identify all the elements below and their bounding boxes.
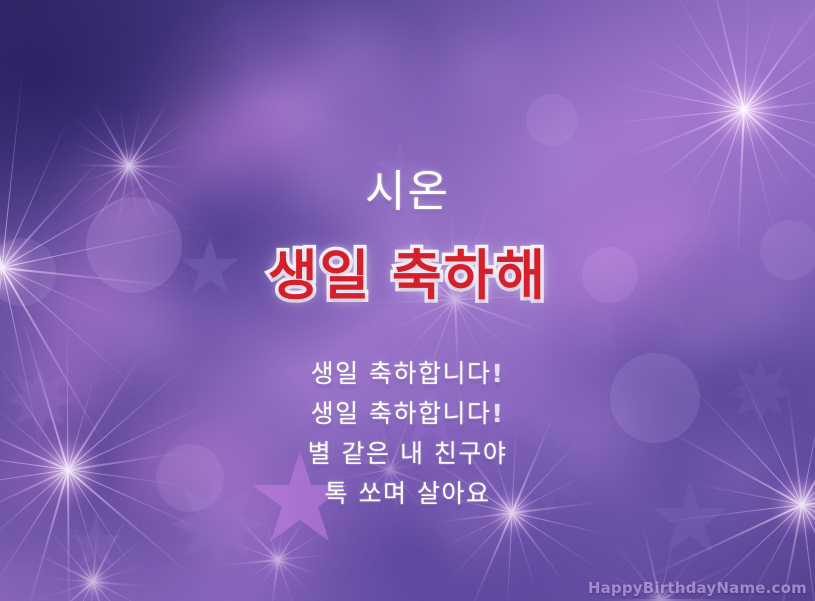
message-line: 별 같은 내 친구야 [0, 434, 815, 474]
exclamation-mark: ! [492, 359, 505, 388]
message-line: 생일 축하합니다! [0, 394, 815, 434]
birthday-card: 시온 생일 축하해 생일 축하합니다!생일 축하합니다!별 같은 내 친구야톡 … [0, 0, 815, 601]
exclamation-mark: ! [492, 399, 505, 428]
site-watermark: HappyBirthdayName.com [588, 579, 807, 597]
card-text-block: 시온 생일 축하해 생일 축하합니다!생일 축하합니다!별 같은 내 친구야톡 … [0, 0, 815, 601]
message-line: 톡 쏘며 살아요 [0, 474, 815, 514]
recipient-name: 시온 [0, 166, 815, 218]
birthday-greeting-title: 생일 축하해 [0, 244, 815, 308]
birthday-message: 생일 축하합니다!생일 축하합니다!별 같은 내 친구야톡 쏘며 살아요 [0, 354, 815, 514]
message-line: 생일 축하합니다! [0, 354, 815, 394]
